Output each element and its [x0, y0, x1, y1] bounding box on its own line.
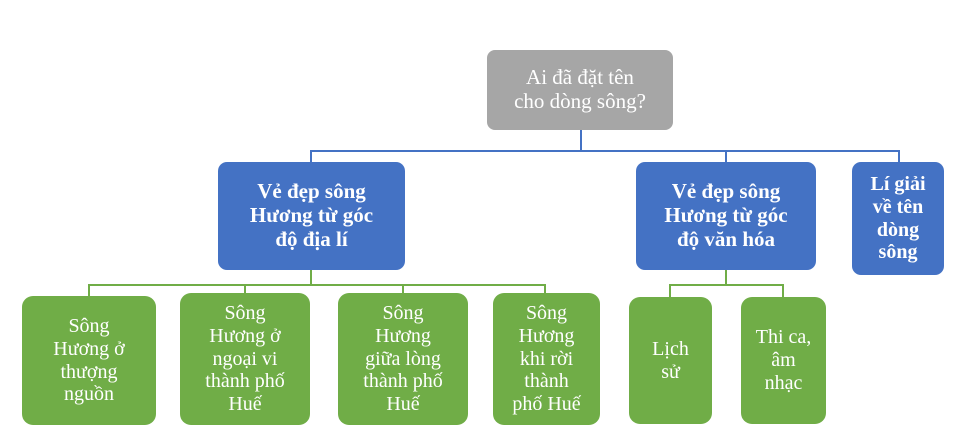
- node-leaf-leaving-city[interactable]: Sông Hương khi rời thành phố Huế: [493, 293, 600, 425]
- node-branch-culture[interactable]: Vẻ đẹp sông Hương từ góc độ văn hóa: [636, 162, 816, 270]
- connector-root-stem: [580, 130, 582, 151]
- node-leaf-poetry-music[interactable]: Thi ca, âm nhạc: [741, 297, 826, 424]
- node-leaf-upstream[interactable]: Sông Hương ở thượng nguồn: [22, 296, 156, 425]
- connector-culture-stem: [725, 270, 727, 285]
- connector-geography-stem: [310, 270, 312, 285]
- diagram-canvas: Ai đã đặt tên cho dòng sông? Vẻ đẹp sông…: [0, 0, 962, 439]
- connector-drop-history: [669, 284, 671, 297]
- node-leaf-upstream-label: Sông Hương ở thượng nguồn: [26, 315, 152, 406]
- node-leaf-leaving-city-label: Sông Hương khi rời thành phố Huế: [497, 302, 596, 416]
- node-leaf-history[interactable]: Lịch sử: [629, 297, 712, 424]
- node-branch-name-origin-label: Lí giải về tên dòng sông: [856, 173, 940, 264]
- node-leaf-city-center[interactable]: Sông Hương giữa lòng thành phố Huế: [338, 293, 468, 425]
- connector-green-bus-left: [88, 284, 546, 286]
- node-leaf-outskirts[interactable]: Sông Hương ở ngoại vi thành phố Huế: [180, 293, 310, 425]
- node-leaf-city-center-label: Sông Hương giữa lòng thành phố Huế: [342, 302, 464, 416]
- node-leaf-history-label: Lịch sử: [633, 338, 708, 384]
- node-branch-name-origin[interactable]: Lí giải về tên dòng sông: [852, 162, 944, 275]
- node-branch-culture-label: Vẻ đẹp sông Hương từ góc độ văn hóa: [640, 180, 812, 252]
- connector-drop-poetry-music: [782, 284, 784, 297]
- node-leaf-poetry-music-label: Thi ca, âm nhạc: [745, 326, 822, 394]
- connector-green-bus-right: [669, 284, 784, 286]
- node-branch-geography[interactable]: Vẻ đẹp sông Hương từ góc độ địa lí: [218, 162, 405, 270]
- node-leaf-outskirts-label: Sông Hương ở ngoại vi thành phố Huế: [184, 302, 306, 416]
- node-root-label: Ai đã đặt tên cho dòng sông?: [491, 66, 669, 114]
- connector-blue-bus: [310, 150, 900, 152]
- node-root[interactable]: Ai đã đặt tên cho dòng sông?: [487, 50, 673, 130]
- node-branch-geography-label: Vẻ đẹp sông Hương từ góc độ địa lí: [222, 180, 401, 252]
